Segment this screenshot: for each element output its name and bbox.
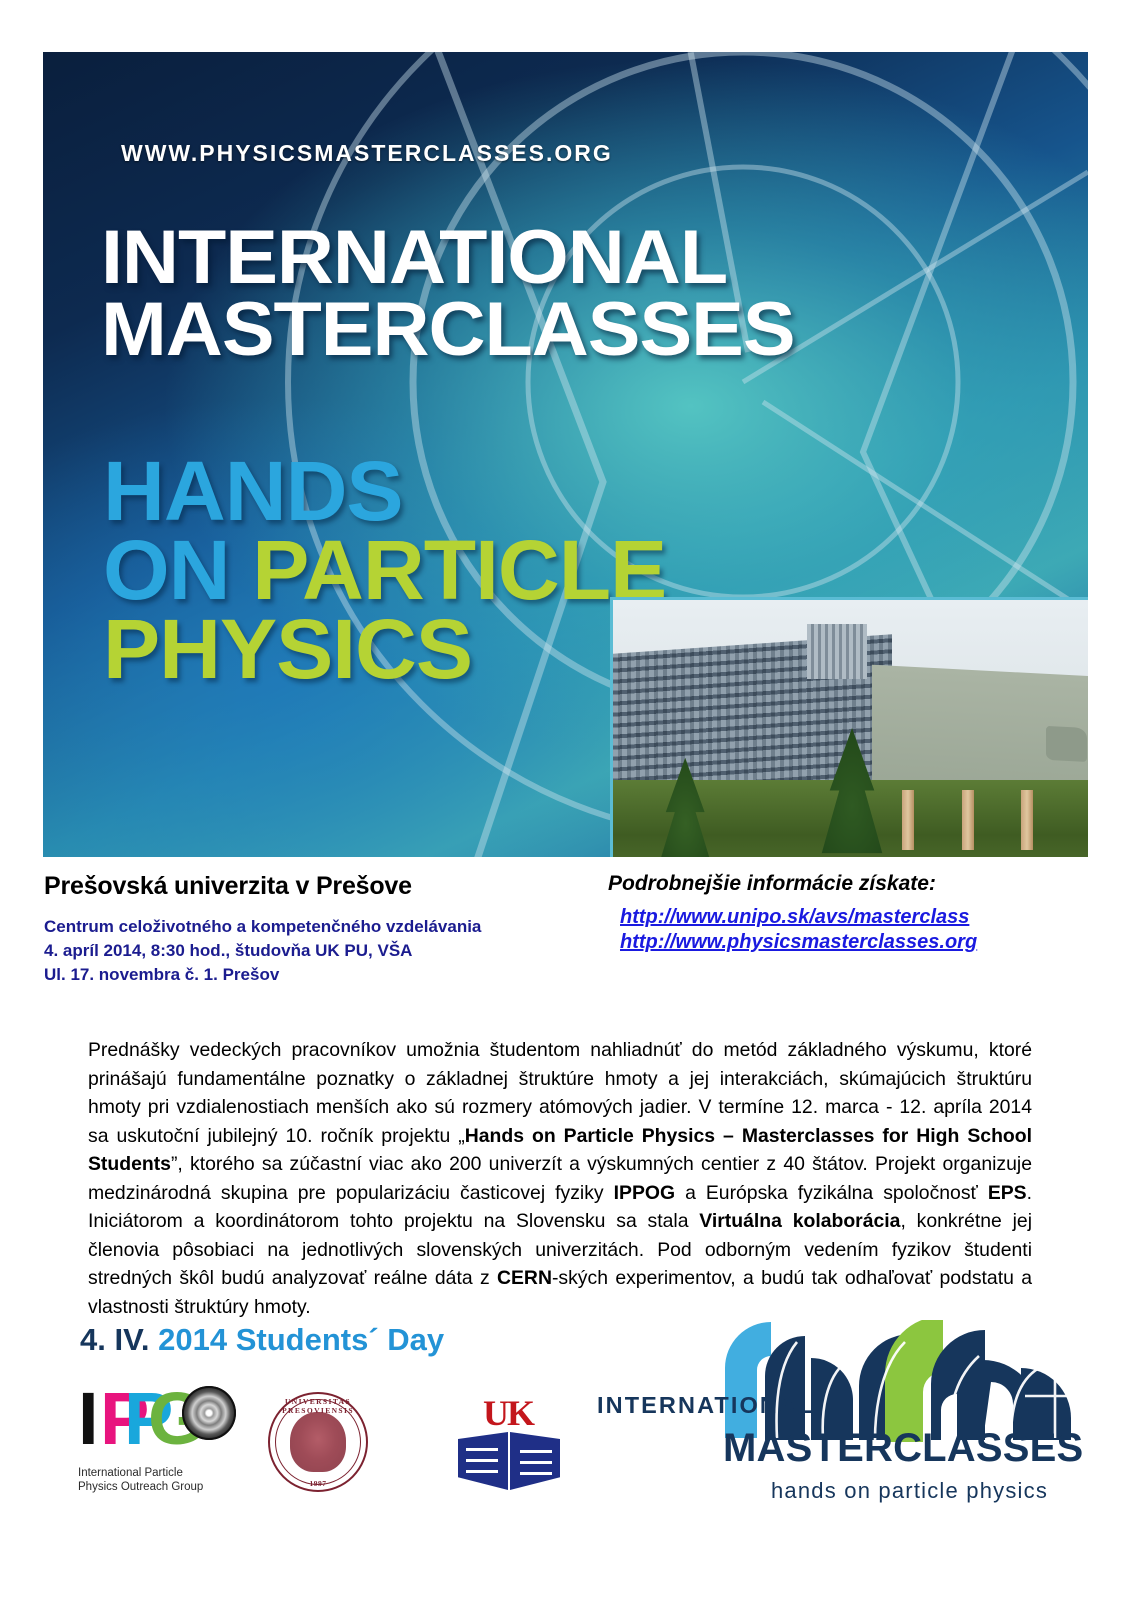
uk-library-logo: UK (455, 1392, 565, 1496)
photo-tower (807, 624, 867, 678)
paragraph-bold-cern: CERN (497, 1267, 552, 1289)
hero-title: INTERNATIONAL MASTERCLASSES (101, 224, 1081, 365)
ippog-caption: International Particle Physics Outreach … (78, 1466, 268, 1495)
book-page-left-icon (458, 1432, 508, 1490)
photo-column (902, 790, 914, 850)
more-info-links: http://www.unipo.sk/avs/masterclass http… (600, 905, 1100, 955)
seal-top-text: UNIVERSITAS PRESOVIENSIS (268, 1397, 368, 1415)
more-info-block: Podrobnejšie informácie získate: http://… (600, 872, 1100, 955)
photo-column (962, 790, 974, 850)
ippog-logo: I P P G International Particle Physics O… (78, 1386, 268, 1495)
paragraph-bold-virtualna-kolaboracia: Virtuálna kolaborácia (699, 1210, 900, 1232)
ippog-letter-i: I (78, 1382, 99, 1456)
international-masterclasses-logo: INTERNATIONAL MASTERCLASSES hands on par… (575, 1318, 1085, 1533)
im-tagline: hands on particle physics (771, 1478, 1048, 1504)
photo-column (1021, 790, 1033, 850)
university-detail-center: Centrum celoživotného a kompetenčného vz… (44, 915, 604, 939)
im-line-masterclasses: MASTERCLASSES (723, 1426, 1083, 1471)
ippog-caption-line-2: Physics Outreach Group (78, 1480, 268, 1494)
students-day-date: 4. IV. (80, 1322, 150, 1357)
presov-university-seal: UNIVERSITAS PRESOVIENSIS 1997 (268, 1392, 368, 1492)
more-info-heading: Podrobnejšie informácie získate: (600, 872, 1100, 896)
photo-wall-relief (1046, 726, 1087, 762)
hero-website-label: WWW.PHYSICSMASTERCLASSES.ORG (121, 140, 613, 167)
link-physicsmasterclasses[interactable]: http://www.physicsmasterclasses.org (620, 930, 1100, 955)
seal-year-text: 1997 (268, 1479, 368, 1488)
hero-title-line-2: MASTERCLASSES (101, 296, 1088, 364)
masterclasses-arch-icon (725, 1320, 1080, 1442)
link-unipo-masterclass[interactable]: http://www.unipo.sk/avs/masterclass (620, 905, 1100, 930)
hero-sub-hands: HANDS (103, 452, 1088, 531)
seal-portrait-icon (290, 1412, 346, 1472)
university-details: Centrum celoživotného a kompetenčného vz… (44, 915, 604, 987)
university-block: Prešovská univerzita v Prešove Centrum c… (44, 872, 604, 987)
university-detail-address: Ul. 17. novembra č. 1. Prešov (44, 963, 604, 987)
hero-title-line-1: INTERNATIONAL (101, 224, 1088, 292)
ippog-mark: I P P G (78, 1386, 248, 1462)
students-day-title: 2014 Students´ Day (158, 1322, 444, 1357)
uk-letters: UK (483, 1392, 533, 1434)
university-building-photo (610, 597, 1088, 857)
paragraph-bold-eps: EPS (988, 1182, 1027, 1204)
university-name: Prešovská univerzita v Prešove (44, 872, 604, 901)
logo-row: I P P G International Particle Physics O… (0, 1378, 1131, 1538)
book-page-right-icon (510, 1432, 560, 1490)
ippog-detector-disc-icon (182, 1386, 236, 1440)
university-detail-date: 4. apríl 2014, 8:30 hod., študovňa UK PU… (44, 939, 604, 963)
im-line-international: INTERNATIONAL (597, 1392, 814, 1419)
hero-banner: WWW.PHYSICSMASTERCLASSES.ORG INTERNATION… (43, 52, 1088, 857)
description-paragraph: Prednášky vedeckých pracovníkov umožnia … (88, 1036, 1032, 1321)
paragraph-part-3: a Európska fyzikálna spoločnosť (675, 1182, 988, 1204)
ippog-caption-line-1: International Particle (78, 1466, 268, 1480)
paragraph-bold-ippog: IPPOG (614, 1182, 675, 1204)
students-day-headline: 4. IV. 2014 Students´ Day (80, 1322, 444, 1358)
